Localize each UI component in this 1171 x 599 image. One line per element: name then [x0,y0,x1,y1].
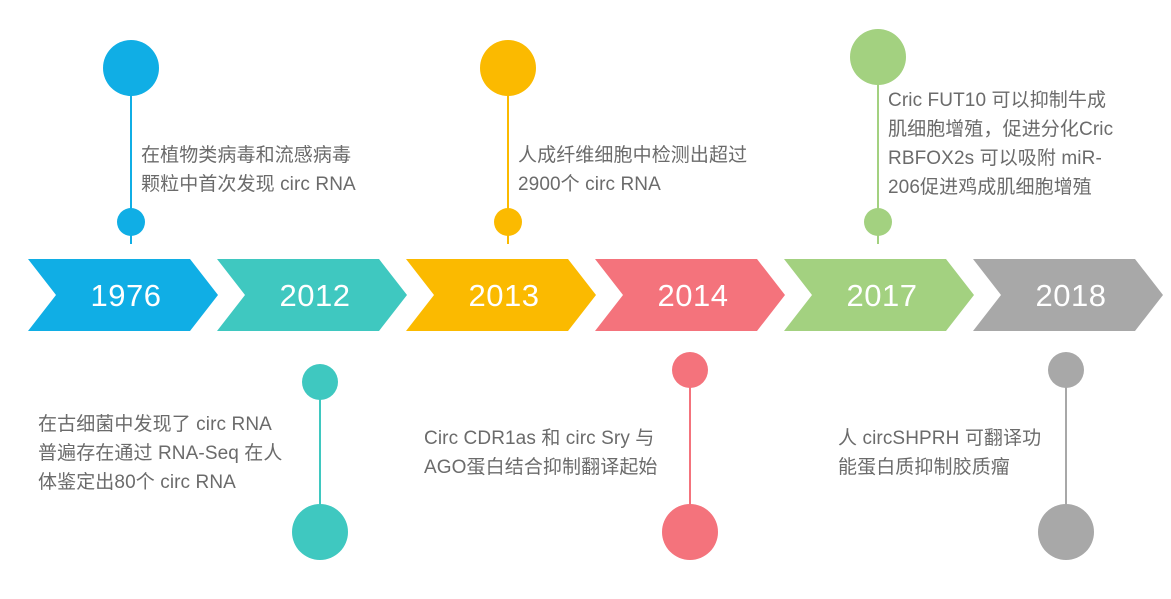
marker-dot-small [864,208,892,236]
caption-2014: Circ CDR1as 和 circ Sry 与 AGO蛋白结合抑制翻译起始 [424,424,692,482]
marker-dot-large [1038,504,1094,560]
caption-2017: Cric FUT10 可以抑制牛成 肌细胞增殖，促进分化Cric RBFOX2s… [888,86,1146,202]
timeline-chevron-1976[interactable]: 1976 [28,259,218,331]
chevron-year-label: 2017 [841,280,918,311]
timeline-diagram: 1976 2012 2013 2014 2017 2018 在植物类病毒和流感病… [0,0,1171,599]
chevron-year-label: 2012 [274,280,351,311]
marker-dot-small [1048,352,1084,388]
timeline-chevron-2018[interactable]: 2018 [973,259,1163,331]
caption-2013: 人成纤维细胞中检测出超过 2900个 circ RNA [518,141,818,199]
marker-dot-small [672,352,708,388]
caption-1976: 在植物类病毒和流感病毒 颗粒中首次发现 circ RNA [141,141,441,199]
timeline-chevron-2013[interactable]: 2013 [406,259,596,331]
timeline-chevron-2012[interactable]: 2012 [217,259,407,331]
marker-dot-large [103,40,159,96]
marker-dot-large [850,29,906,85]
caption-2012: 在古细菌中发现了 circ RNA 普遍存在通过 RNA-Seq 在人 体鉴定出… [38,410,310,497]
marker-dot-large [480,40,536,96]
timeline-chevron-2014[interactable]: 2014 [595,259,785,331]
marker-dot-large [662,504,718,560]
marker-2013 [480,40,536,236]
marker-dot-small [117,208,145,236]
chevron-year-label: 1976 [85,280,162,311]
marker-dot-small [302,364,338,400]
marker-dot-small [494,208,522,236]
chevron-year-label: 2018 [1030,280,1107,311]
marker-1976 [103,40,159,236]
chevron-year-label: 2013 [463,280,540,311]
timeline-chevron-band: 1976 2012 2013 2014 2017 2018 [0,259,1171,331]
timeline-chevron-2017[interactable]: 2017 [784,259,974,331]
chevron-year-label: 2014 [652,280,729,311]
caption-2018: 人 circSHPRH 可翻译功 能蛋白质抑制胶质瘤 [838,424,1078,482]
marker-dot-large [292,504,348,560]
